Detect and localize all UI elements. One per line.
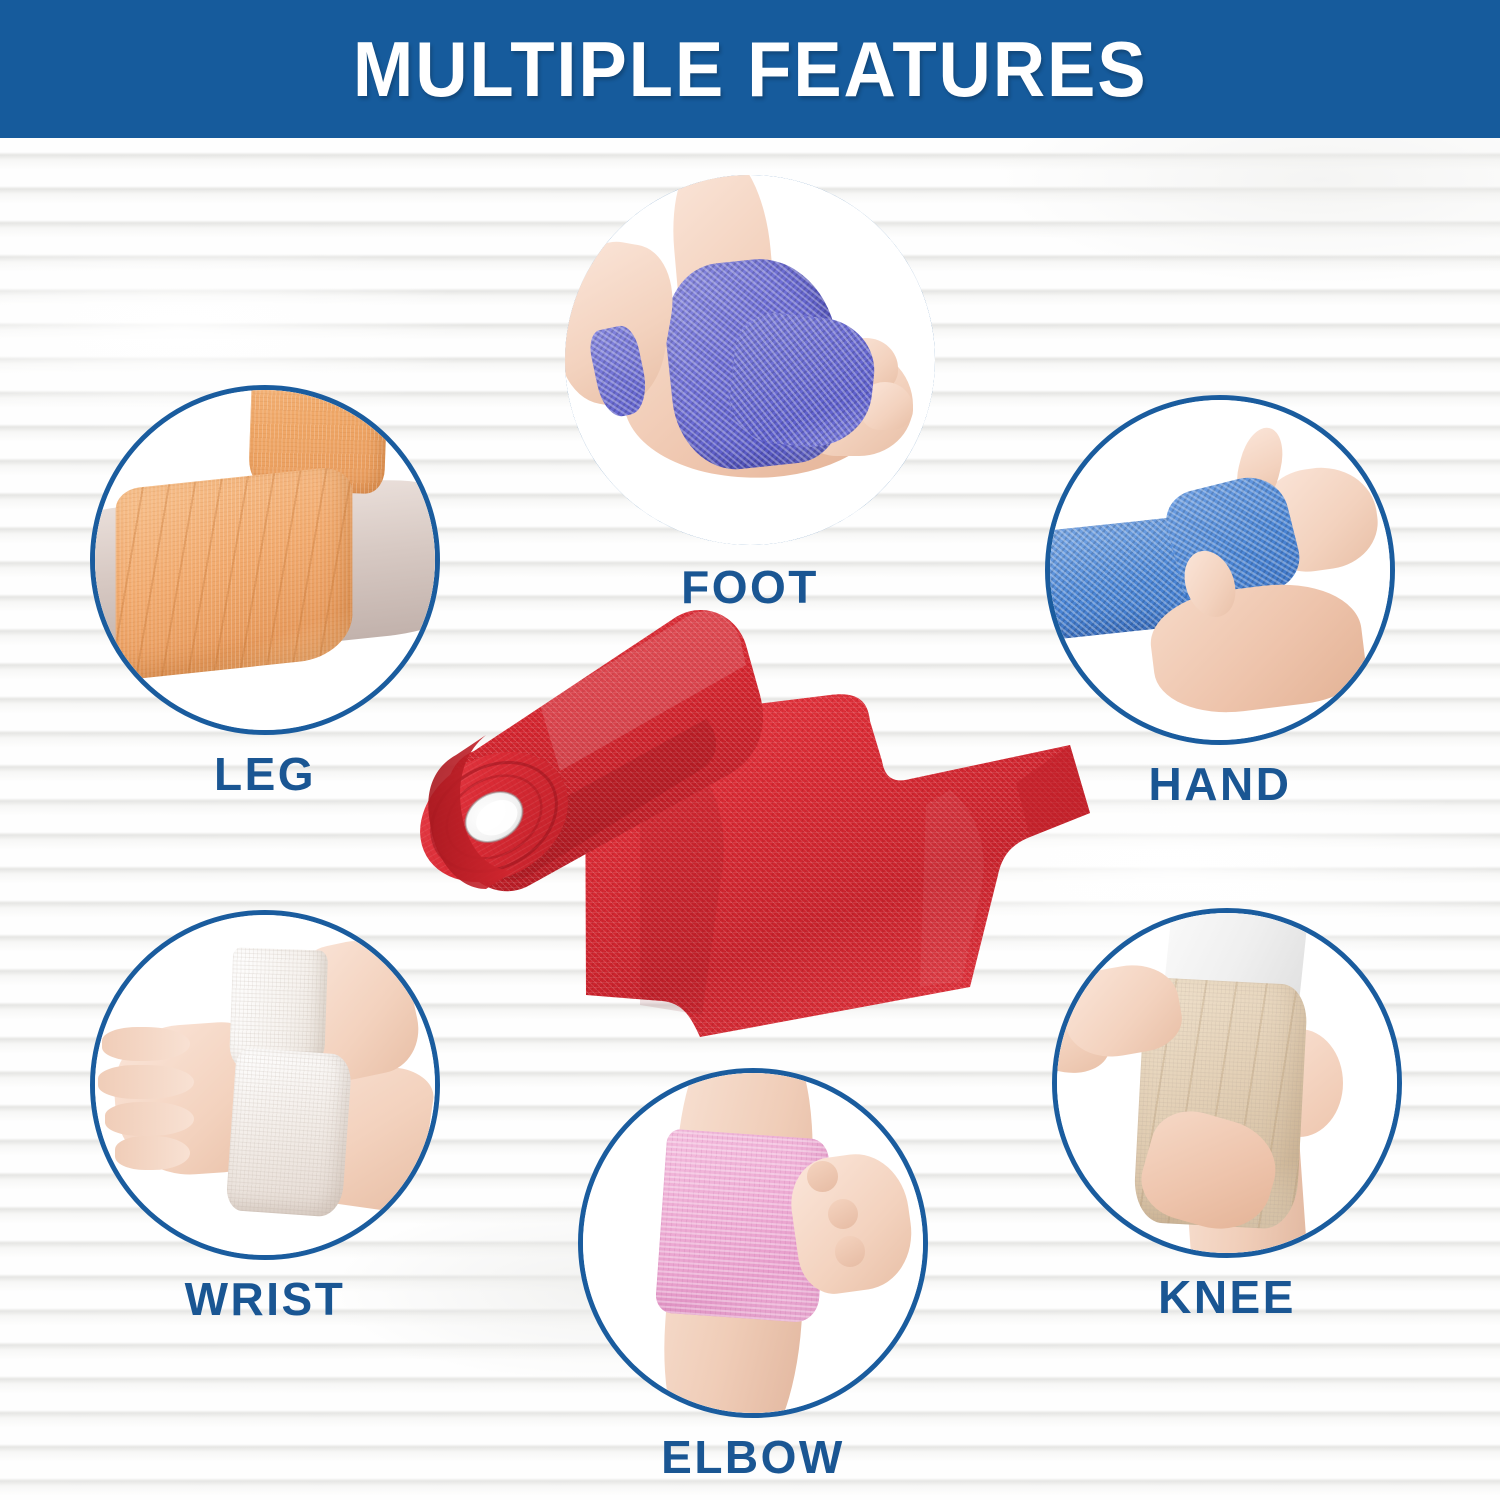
knuckle-1 <box>807 1161 838 1192</box>
wrist-bandage-wrap <box>225 1047 352 1218</box>
feature-knee-circle[interactable] <box>1052 908 1402 1258</box>
feature-wrist-circle[interactable] <box>90 910 440 1260</box>
feature-elbow-photo <box>583 1073 923 1413</box>
feature-wrist-label: WRIST <box>90 1272 440 1326</box>
feature-leg-photo <box>95 390 435 730</box>
feature-wrist-photo <box>95 915 435 1255</box>
feature-wrist[interactable]: WRIST <box>90 910 440 1260</box>
feature-foot-photo <box>565 175 935 545</box>
product-image-bandage-roll[interactable] <box>390 585 1100 1065</box>
infographic-page: MULTIPLE FEATURES <box>0 0 1500 1500</box>
knuckle-3 <box>835 1236 866 1267</box>
bandage-weave-texture <box>225 1047 352 1218</box>
feature-foot-circle[interactable] <box>565 175 935 545</box>
feature-elbow[interactable]: ELBOW <box>578 1068 928 1418</box>
finger-4 <box>115 1136 190 1170</box>
feature-knee[interactable]: KNEE <box>1052 908 1402 1258</box>
feature-knee-label: KNEE <box>1052 1270 1402 1324</box>
header-banner: MULTIPLE FEATURES <box>0 0 1500 138</box>
feature-hand-photo <box>1050 400 1390 740</box>
feature-foot[interactable]: FOOT <box>565 175 935 545</box>
leg-bandage-wrap <box>116 465 353 681</box>
finger-2 <box>98 1065 193 1099</box>
bandage-coil-lines <box>116 465 353 681</box>
feature-leg[interactable]: LEG <box>90 385 440 735</box>
finger-3 <box>105 1102 193 1136</box>
page-title: MULTIPLE FEATURES <box>353 30 1148 108</box>
feature-elbow-label: ELBOW <box>578 1430 928 1484</box>
feature-elbow-circle[interactable] <box>578 1068 928 1418</box>
feature-knee-photo <box>1057 913 1397 1253</box>
feature-leg-circle[interactable] <box>90 385 440 735</box>
feature-leg-label: LEG <box>90 747 440 801</box>
